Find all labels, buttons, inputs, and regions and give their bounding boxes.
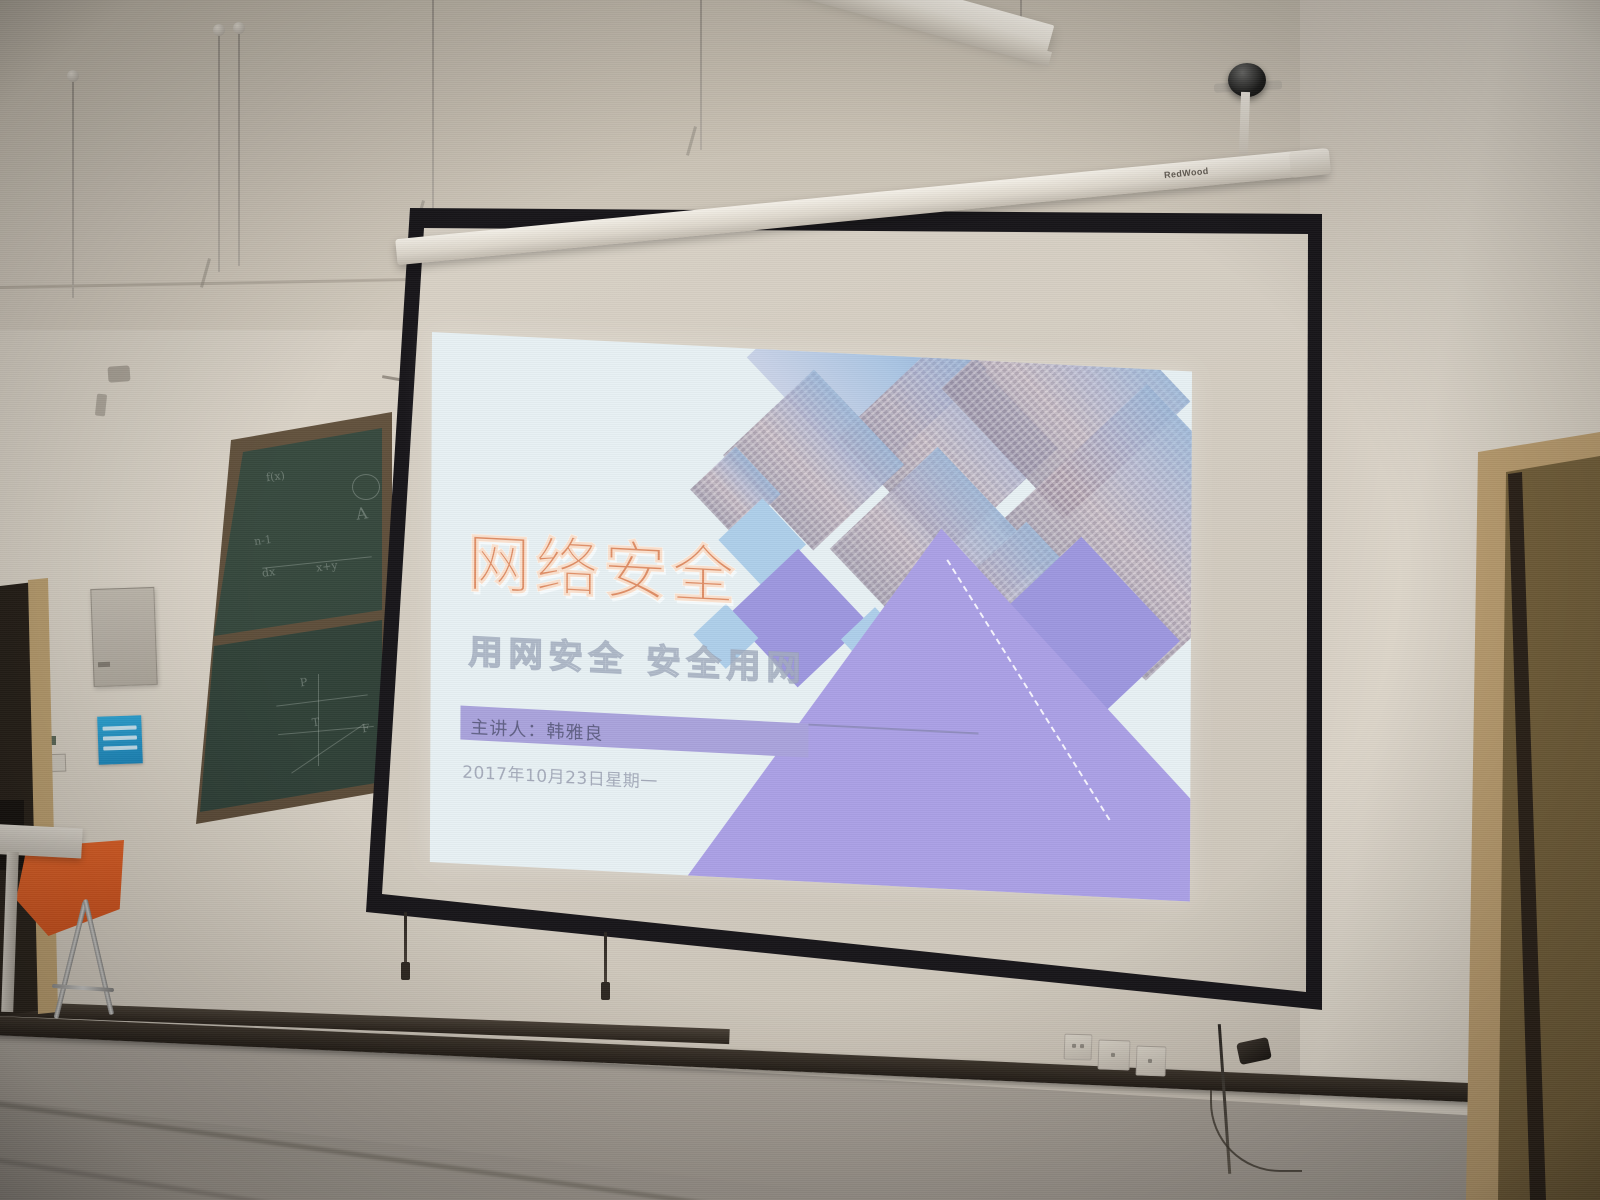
presentation-slide: 网络安全 用网安全 安全用网 主讲人：韩雅良 2017年10月23日星期一 <box>430 332 1192 902</box>
projected-slide-wrapper: 网络安全 用网安全 安全用网 主讲人：韩雅良 2017年10月23日星期一 <box>0 0 1600 1200</box>
slide-date-label: 2017年10月23日星期一 <box>462 758 658 793</box>
outlet-slot-a <box>1072 1044 1076 1048</box>
outlet-switch-b <box>1148 1059 1152 1063</box>
outlet-slot-b <box>1080 1044 1084 1048</box>
outlet-switch-a <box>1111 1053 1115 1057</box>
wall-outlet-1[interactable] <box>1064 1034 1093 1061</box>
wall-outlet-2[interactable] <box>1097 1039 1130 1070</box>
wall-outlet-3[interactable] <box>1135 1045 1166 1076</box>
slide-title: 网络安全 <box>467 512 739 618</box>
classroom-photo: f(x) n-1 dx x+y A P T F RedWood <box>0 0 1600 1200</box>
